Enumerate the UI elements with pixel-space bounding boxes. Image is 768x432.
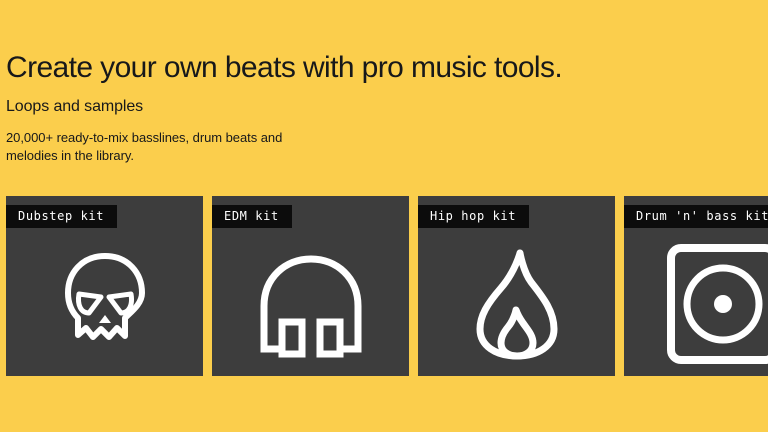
page-title: Create your own beats with pro music too… bbox=[6, 50, 762, 86]
kit-card-dubstep[interactable]: Dubstep kit bbox=[6, 196, 203, 376]
headphones-icon bbox=[212, 234, 409, 374]
promo-banner: Create your own beats with pro music too… bbox=[0, 0, 768, 432]
skull-icon bbox=[6, 234, 203, 374]
kit-card-tag: Dubstep kit bbox=[6, 205, 117, 228]
kit-card-edm[interactable]: EDM kit bbox=[212, 196, 409, 376]
speaker-icon bbox=[624, 234, 768, 374]
kit-card-label: Dubstep kit bbox=[18, 210, 104, 223]
kit-card-label: EDM kit bbox=[224, 210, 279, 223]
kit-card-tag: Hip hop kit bbox=[418, 205, 529, 228]
kit-card-tag: Drum 'n' bass kit bbox=[624, 205, 768, 228]
hero-subhead: Loops and samples bbox=[6, 97, 762, 117]
flame-icon bbox=[418, 234, 615, 374]
hero-description: 20,000+ ready-to-mix basslines, drum bea… bbox=[6, 129, 306, 165]
hero-text-block: Create your own beats with pro music too… bbox=[6, 50, 762, 165]
kit-card-tag: EDM kit bbox=[212, 205, 292, 228]
kit-card-hiphop[interactable]: Hip hop kit bbox=[418, 196, 615, 376]
kit-card-label: Drum 'n' bass kit bbox=[636, 210, 768, 223]
kit-card-drum-n-bass[interactable]: Drum 'n' bass kit bbox=[624, 196, 768, 376]
kit-card-strip: Dubstep kit EDM kit bbox=[6, 196, 768, 376]
kit-card-label: Hip hop kit bbox=[430, 210, 516, 223]
